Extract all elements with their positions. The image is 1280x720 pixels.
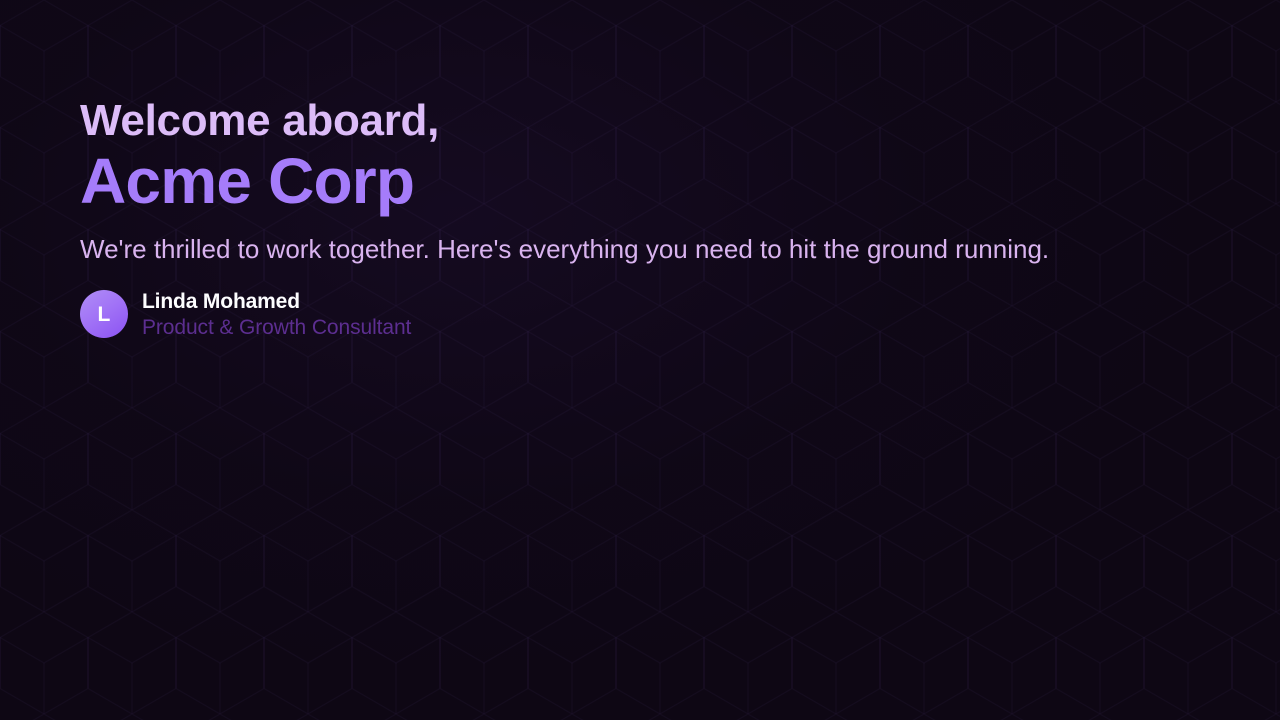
sender-role: Product & Growth Consultant — [142, 315, 411, 340]
sender-block: L Linda Mohamed Product & Growth Consult… — [80, 289, 1200, 340]
intro-paragraph: We're thrilled to work together. Here's … — [80, 232, 1200, 267]
company-name-heading: Acme Corp — [80, 146, 1200, 218]
avatar: L — [80, 290, 128, 338]
page-stage: Welcome aboard, Acme Corp We're thrilled… — [0, 0, 1280, 720]
sender-details: Linda Mohamed Product & Growth Consultan… — [142, 289, 411, 340]
welcome-greeting: Welcome aboard, — [80, 96, 1200, 146]
sender-name: Linda Mohamed — [142, 289, 411, 314]
avatar-initial: L — [97, 304, 110, 325]
hero-section: Welcome aboard, Acme Corp We're thrilled… — [80, 96, 1200, 340]
